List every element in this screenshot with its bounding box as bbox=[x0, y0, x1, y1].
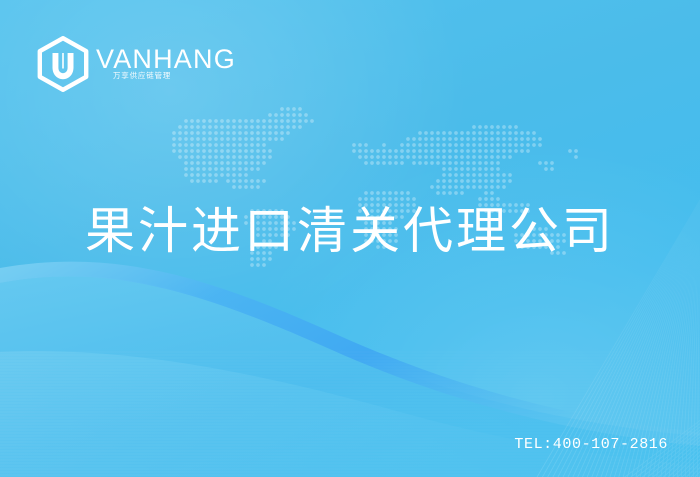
logo-typography: VANHANG 万享供应链管理 bbox=[96, 36, 220, 92]
page-title: 果汁进口清关代理公司 bbox=[0, 203, 700, 259]
vanhang-hexagon-mark bbox=[36, 36, 90, 92]
logo-wordmark: VANHANG bbox=[96, 46, 236, 73]
promo-banner: VANHANG 万享供应链管理 果汁进口清关代理公司 TEL:400-107-2… bbox=[0, 0, 700, 477]
contact-phone: TEL:400-107-2816 bbox=[514, 436, 668, 453]
brand-logo: VANHANG 万享供应链管理 bbox=[36, 36, 220, 92]
logo-subtitle: 万享供应链管理 bbox=[113, 72, 171, 80]
